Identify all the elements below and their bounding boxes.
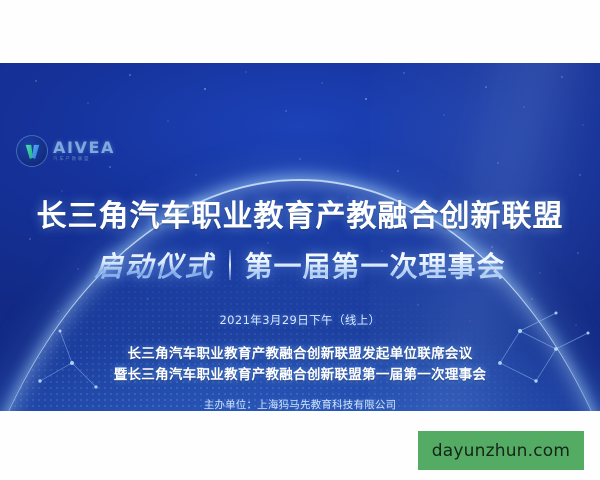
banner-organizer-block: 主办单位：上海犸马先教育科技有限公司 支持单位：上海南湖职业技术学院 · 上海科…	[0, 394, 600, 411]
aivea-logo-text: AIVEA 汽车产教联盟	[53, 140, 115, 163]
banner-headline: 长三角汽车职业教育产教融合创新联盟	[0, 191, 600, 235]
aivea-v-badge-icon	[16, 135, 48, 167]
organizer-line: 主办单位：上海犸马先教育科技有限公司	[0, 394, 600, 411]
page-canvas: AIVEA 汽车产教联盟 长三角汽车职业教育产教融合创新联盟 启动仪式 第一届第…	[0, 0, 600, 480]
subtitle-divider	[229, 250, 231, 280]
banner-date-line: 2021年3月29日下午（线上）	[0, 312, 600, 328]
watermark-text: dayunzhun.com	[432, 441, 570, 461]
subtitle-left-text: 启动仪式	[94, 245, 214, 285]
banner-event-lines: 长三角汽车职业教育产教融合创新联盟发起单位联席会议 暨长三角汽车职业教育产教融合…	[0, 344, 600, 386]
event-banner-image: AIVEA 汽车产教联盟 长三角汽车职业教育产教融合创新联盟 启动仪式 第一届第…	[0, 63, 600, 411]
subtitle-right-text: 第一届第一次理事会	[245, 245, 506, 285]
aivea-logo: AIVEA 汽车产教联盟	[16, 135, 115, 167]
watermark-badge: dayunzhun.com	[418, 431, 584, 470]
banner-subtitle-row: 启动仪式 第一届第一次理事会	[0, 245, 600, 285]
event-line: 暨长三角汽车职业教育产教融合创新联盟第一届第一次理事会	[0, 365, 600, 386]
aivea-sub-wordmark: 汽车产教联盟	[53, 158, 115, 163]
aivea-wordmark: AIVEA	[53, 140, 115, 156]
event-line: 长三角汽车职业教育产教融合创新联盟发起单位联席会议	[0, 344, 600, 365]
